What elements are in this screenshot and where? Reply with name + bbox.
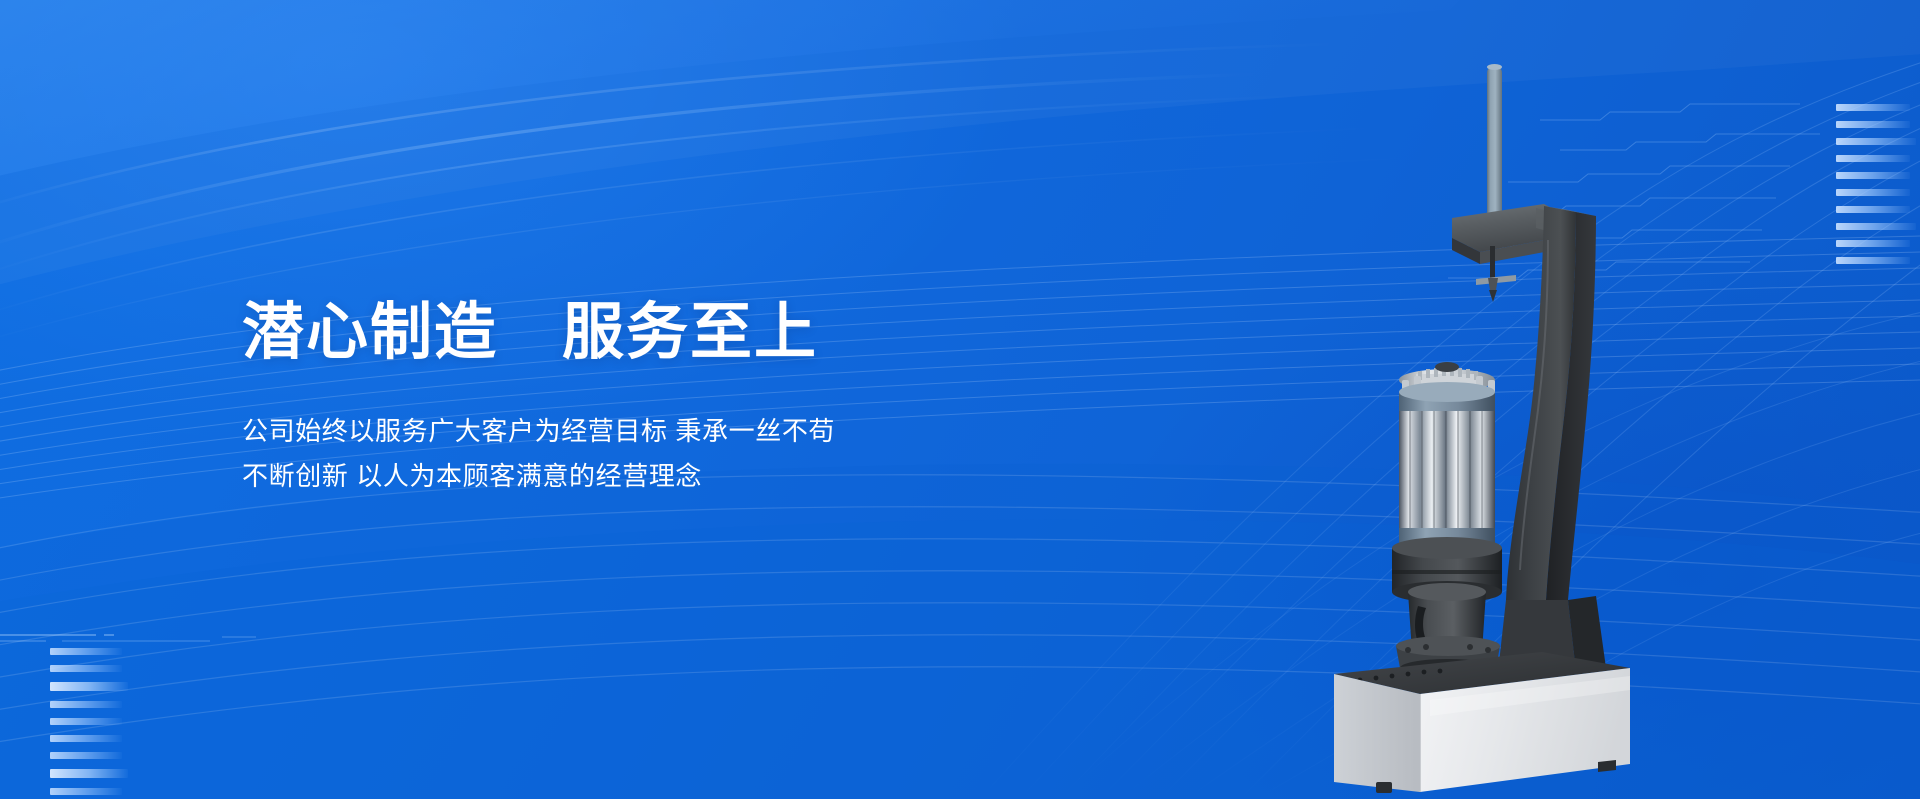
decoration-bar — [50, 769, 128, 778]
hero-subtitle-line-1: 公司始终以服务广大客户为经营目标 秉承一丝不苟 — [242, 409, 835, 454]
decoration-bar — [50, 752, 122, 759]
decoration-bar — [1836, 155, 1910, 162]
machine-column — [1506, 206, 1596, 600]
hero-copy: 潜心制造 服务至上 公司始终以服务广大客户为经营目标 秉承一丝不苟 不断创新 以… — [242, 300, 835, 499]
decoration-bar — [50, 718, 122, 725]
decoration-bar — [1836, 172, 1910, 179]
decoration-bar — [1836, 257, 1910, 264]
decoration-bar — [50, 735, 122, 742]
left-decoration-bars — [50, 648, 134, 795]
machine-cabinet — [1334, 652, 1630, 793]
decoration-bar — [50, 648, 122, 655]
right-decoration-bars — [1836, 104, 1920, 264]
decoration-bar — [50, 665, 122, 672]
hero-subtitle-line-2: 不断创新 以人为本顾客满意的经营理念 — [242, 454, 835, 499]
decoration-bar — [50, 701, 122, 708]
decoration-bar — [50, 788, 122, 795]
decoration-bar — [1836, 121, 1910, 128]
hero-headline: 潜心制造 服务至上 — [242, 300, 835, 365]
decoration-bar — [1836, 206, 1910, 213]
hero-banner: 潜心制造 服务至上 公司始终以服务广大客户为经营目标 秉承一丝不苟 不断创新 以… — [0, 0, 1920, 799]
decoration-bar — [50, 682, 128, 691]
product-image-industrial-press — [1330, 40, 1660, 799]
machine-guide-rod — [1487, 64, 1502, 226]
machine-cylinder-head — [1392, 362, 1502, 603]
decoration-bar — [1836, 223, 1916, 230]
hero-subtitle: 公司始终以服务广大客户为经营目标 秉承一丝不苟 不断创新 以人为本顾客满意的经营… — [242, 409, 835, 499]
decoration-bar — [1836, 240, 1910, 247]
decoration-bar — [1836, 189, 1910, 196]
decoration-bar — [1836, 104, 1910, 111]
decoration-bar — [1836, 138, 1916, 145]
